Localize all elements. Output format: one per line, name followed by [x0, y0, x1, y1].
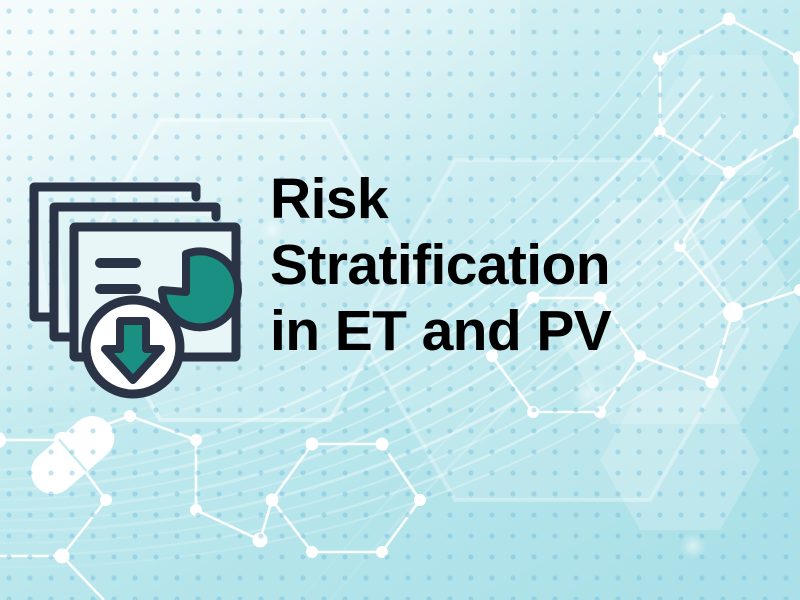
stacked-report-download-icon [24, 175, 254, 405]
page-title: Risk Stratification in ET and PV [270, 166, 700, 364]
title-line-2: Stratification [270, 232, 700, 298]
title-line-1: Risk [270, 166, 700, 232]
banner-root: Risk Stratification in ET and PV [0, 0, 800, 600]
report-icon-svg [24, 175, 254, 405]
download-badge-circle [86, 300, 180, 394]
title-line-3: in ET and PV [270, 298, 700, 364]
